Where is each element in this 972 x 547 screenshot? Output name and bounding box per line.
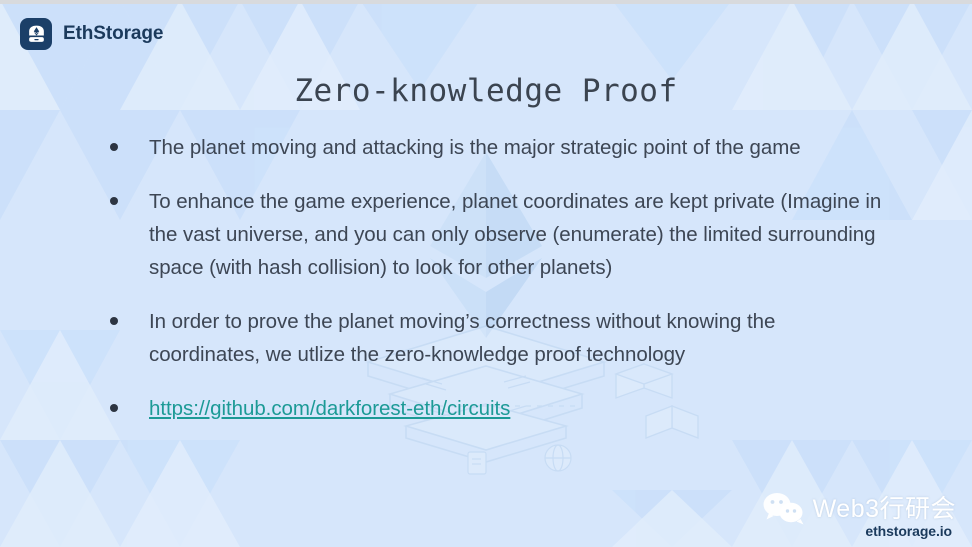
bullet-list: The planet moving and attacking is the m… <box>110 131 885 446</box>
list-item: To enhance the game experience, planet c… <box>110 185 885 284</box>
bullet-text: The planet moving and attacking is the m… <box>149 131 801 164</box>
list-item: The planet moving and attacking is the m… <box>110 131 885 164</box>
bullet-dot-icon <box>110 317 118 325</box>
bullet-dot-icon <box>110 143 118 151</box>
list-item-link: https://github.com/darkforest-eth/circui… <box>110 392 885 425</box>
ethstorage-logo-icon <box>20 18 52 50</box>
bullet-text: To enhance the game experience, planet c… <box>149 185 885 284</box>
top-edge-strip <box>0 0 972 4</box>
channel-watermark: Web3行研会 ethstorage.io <box>762 492 956 539</box>
bullet-dot-icon <box>110 197 118 205</box>
brand-header: EthStorage <box>20 18 163 50</box>
github-circuits-link[interactable]: https://github.com/darkforest-eth/circui… <box>149 392 510 425</box>
watermark-row: Web3行研会 <box>762 492 956 526</box>
wechat-icon <box>762 492 806 526</box>
slide-title: Zero-knowledge Proof <box>0 73 972 109</box>
brand-name: EthStorage <box>63 23 163 45</box>
storage-drive-ethereum-icon <box>26 24 47 45</box>
bullet-dot-icon <box>110 404 118 412</box>
list-item: In order to prove the planet moving’s co… <box>110 305 885 371</box>
bullet-text: In order to prove the planet moving’s co… <box>149 305 885 371</box>
watermark-label: Web3行研会 <box>813 497 956 522</box>
